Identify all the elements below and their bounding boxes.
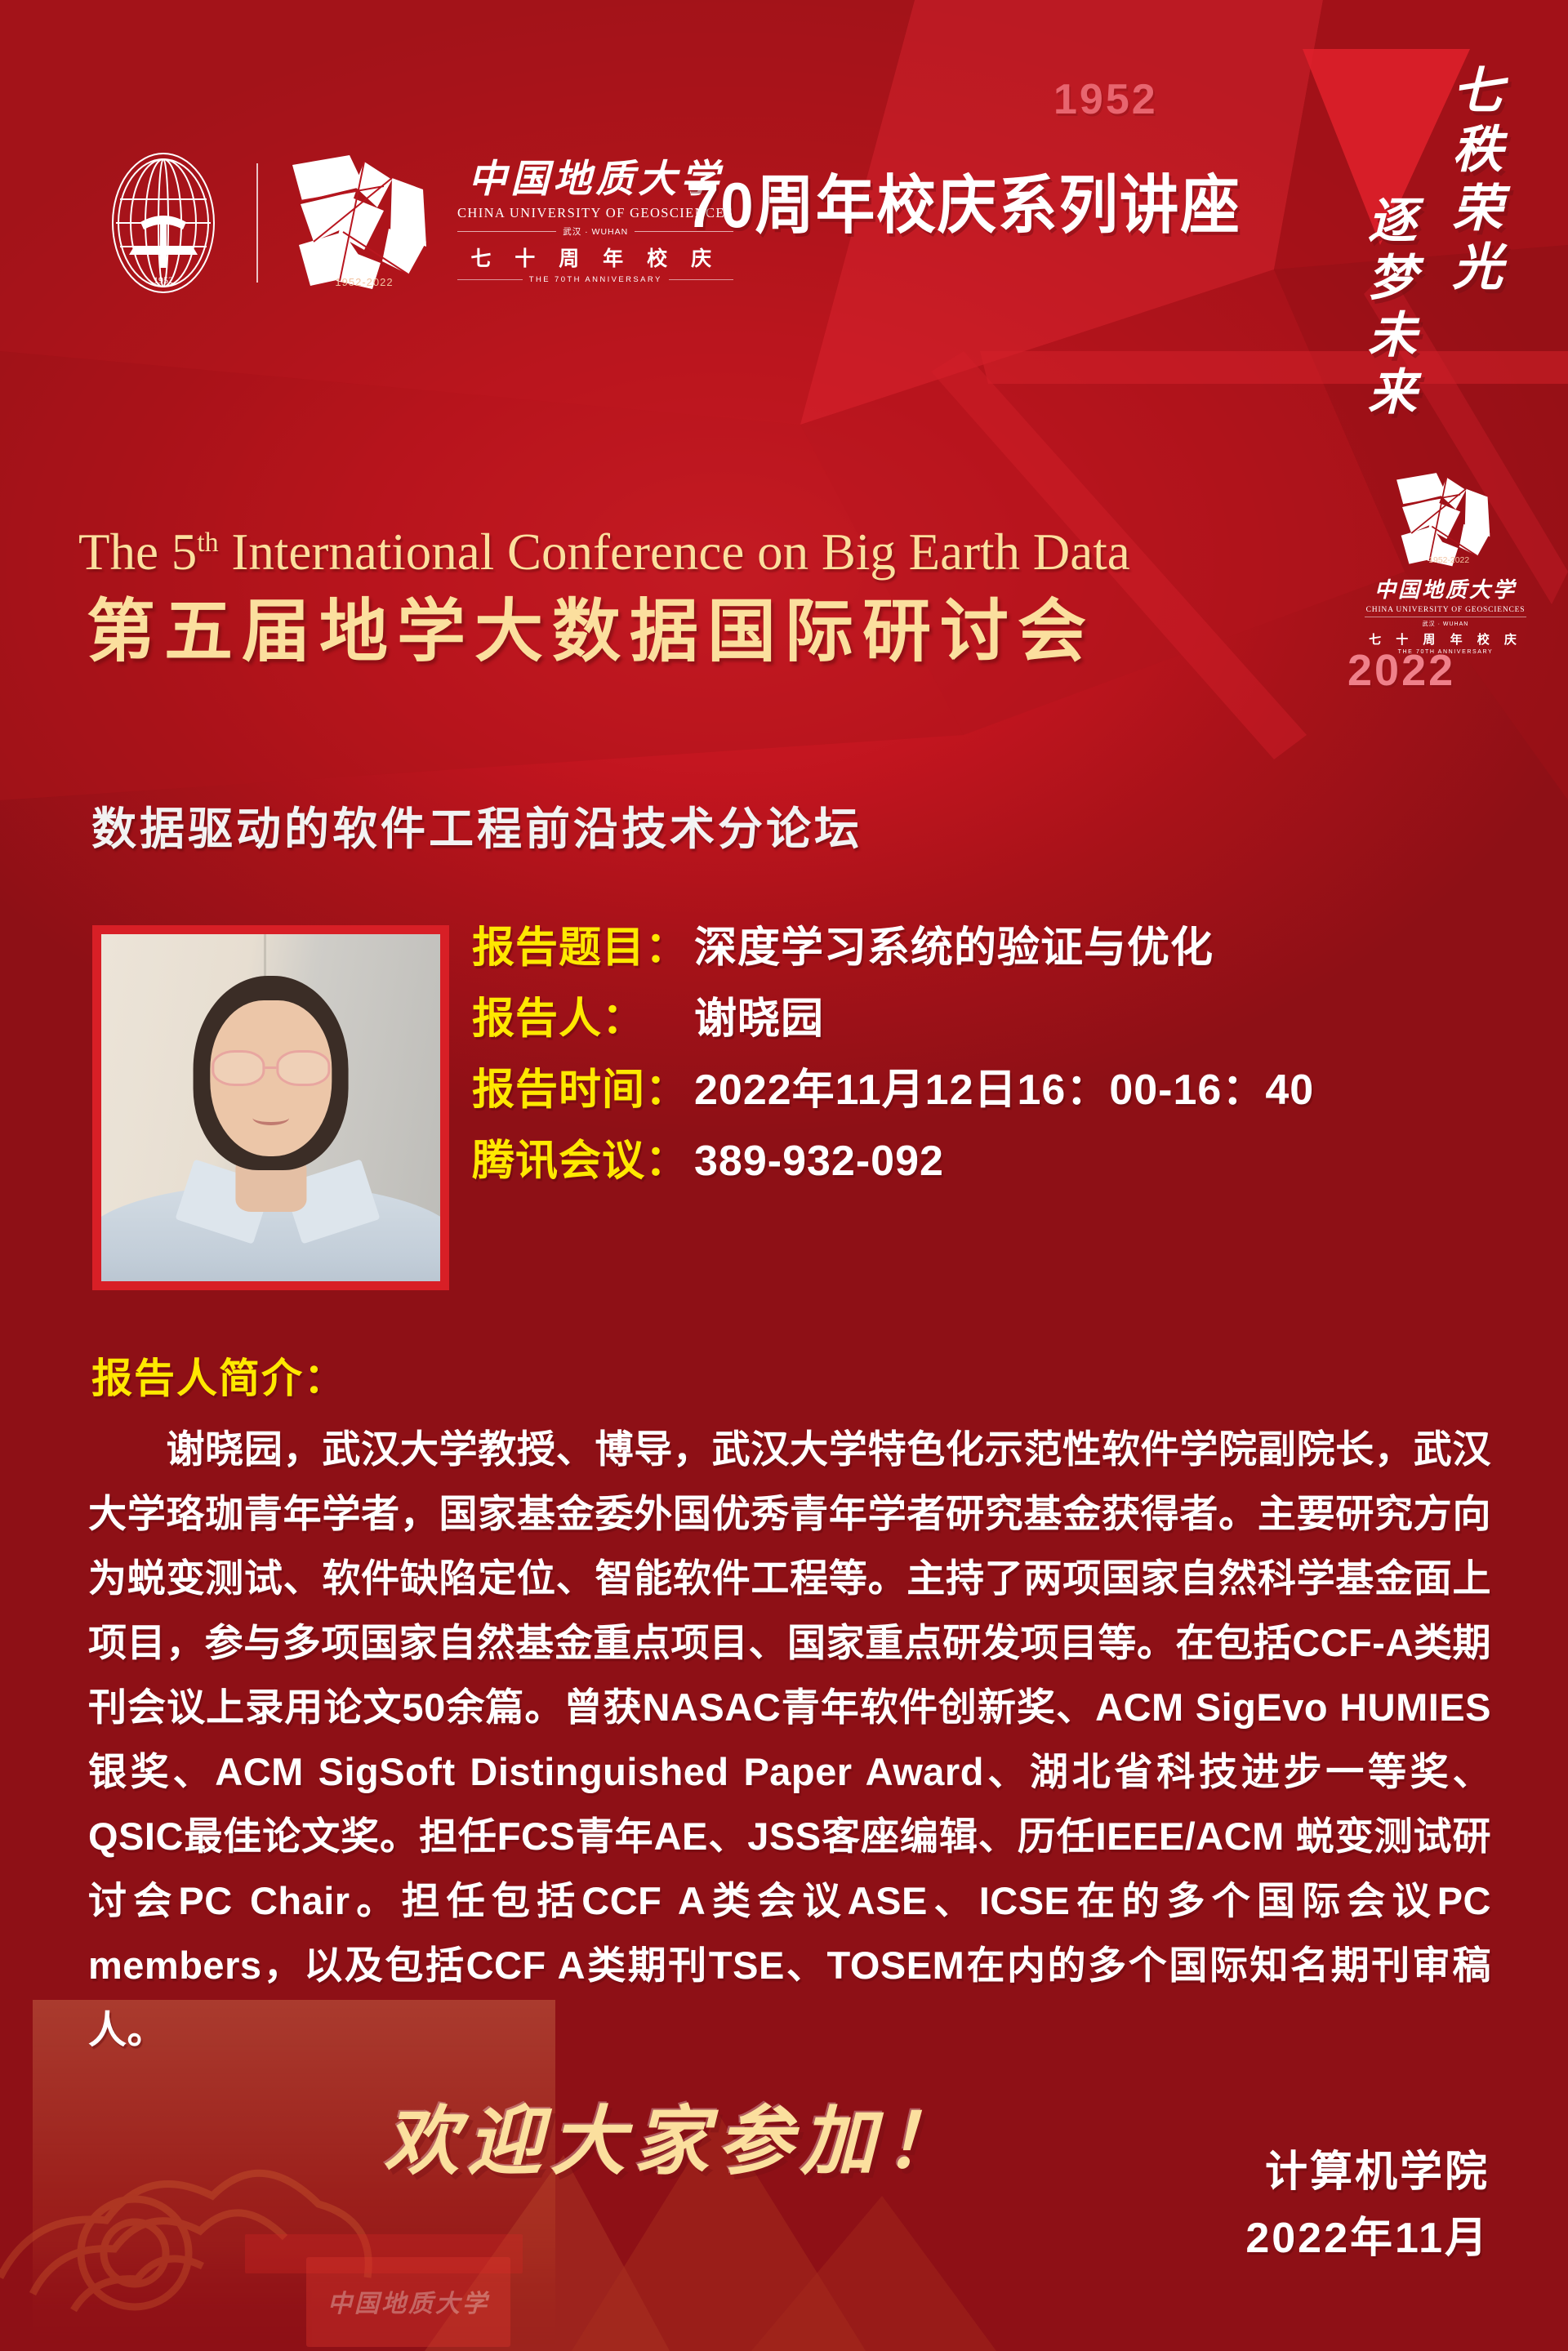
conference-title-en-prefix: The 5: [78, 523, 197, 581]
talk-title-value: 深度学习系统的验证与优化: [694, 913, 1214, 974]
logo-divider: [256, 163, 258, 283]
bio-heading: 报告人简介：: [91, 1346, 346, 1405]
podium-sign: 中国地质大学: [306, 2257, 510, 2347]
wordmark-anniversary-rule: THE 70TH ANNIVERSARY: [457, 275, 733, 284]
wordmark-city: 武汉 · WUHAN: [563, 225, 628, 238]
cug-anniversary-logo-small: 1952-2022 中国地质大学 CHINA UNIVERSITY OF GEO…: [1352, 470, 1539, 655]
speaker-photo-frame: [92, 925, 449, 1290]
speaker-photo: [101, 934, 440, 1281]
talk-meeting-label: 腾讯会议：: [472, 1126, 694, 1187]
anniversary-70-mark-small-icon: 1952-2022: [1392, 470, 1499, 571]
conference-title-en-ordinal: th: [197, 528, 218, 558]
university-logo-block: 1952: [98, 151, 733, 294]
lecture-series-title: 70周年校庆系列讲座: [686, 173, 1241, 237]
footer-organizer-block: 计算机学院 2022年11月: [1245, 2139, 1490, 2271]
wordmark-cn: 中国地质大学: [468, 161, 723, 199]
talk-info-row-meeting: 腾讯会议： 389-932-092: [472, 1126, 1517, 1187]
cug-seal-icon: 1952: [98, 150, 229, 296]
photo-lens-left: [212, 1050, 265, 1086]
wordmark-anniversary-en: THE 70TH ANNIVERSARY: [529, 275, 662, 284]
talk-speaker-label: 报告人：: [472, 984, 694, 1045]
talk-meeting-value: 389-932-092: [694, 1137, 944, 1186]
svg-text:1952: 1952: [154, 274, 173, 286]
small-logo-divider: [1365, 617, 1526, 617]
conference-title-en: The 5th International Conference on Big …: [78, 523, 1130, 582]
small-logo-cn: 中国地质大学: [1352, 573, 1539, 603]
conference-title-cn: 第五届地学大数据国际研讨会: [87, 590, 1095, 675]
talk-speaker-value: 谢晓园: [694, 984, 824, 1045]
poster-root: 中国地质大学: [0, 0, 1568, 2351]
bio-text: 谢晓园，武汉大学教授、博导，武汉大学特色化示范性软件学院副院长，武汉大学珞珈青年…: [88, 1417, 1491, 2062]
talk-time-value: 2022年11月12日16：00-16：40: [694, 1055, 1314, 1116]
conference-title-en-rest: International Conference on Big Earth Da…: [219, 523, 1130, 581]
talk-info-row-speaker: 报告人： 谢晓园: [472, 984, 1517, 1045]
small-logo-anniversary-cn: 七 十 周 年 校 庆: [1352, 630, 1539, 648]
talk-info-row-time: 报告时间： 2022年11月12日16：00-16：40: [472, 1055, 1517, 1116]
poster-header: 1952: [0, 0, 1568, 343]
anniversary-70-mark-icon: 1952-2022: [286, 150, 439, 296]
calligraphy-zhumeng-weilai: 逐梦未来: [1362, 194, 1412, 423]
talk-time-label: 报告时间：: [472, 1055, 694, 1116]
svg-text:1952-2022: 1952-2022: [1428, 556, 1469, 565]
svg-text:1952-2022: 1952-2022: [335, 276, 393, 288]
footer-organizer: 计算机学院: [1245, 2139, 1490, 2206]
small-logo-en: CHINA UNIVERSITY OF GEOSCIENCES: [1352, 606, 1539, 614]
podium-sign-text: 中国地质大学: [306, 2283, 510, 2319]
talk-title-label: 报告题目：: [472, 913, 694, 974]
calligraphy-qizhi-rongguang: 七秩荣光: [1445, 64, 1497, 299]
footer-date: 2022年11月: [1245, 2206, 1490, 2272]
talk-info-row-title: 报告题目： 深度学习系统的验证与优化: [472, 913, 1517, 974]
forum-subtitle: 数据驱动的软件工程前沿技术分论坛: [91, 792, 862, 857]
wordmark-anniversary-cn: 七 十 周 年 校 庆: [470, 243, 720, 272]
photo-smile: [252, 1110, 290, 1125]
photo-glasses-bridge: [265, 1066, 277, 1069]
small-logo-city: 武汉 · WUHAN: [1352, 620, 1539, 628]
small-logo-anniversary-en: THE 70TH ANNIVERSARY: [1352, 649, 1539, 655]
talk-info-block: 报告题目： 深度学习系统的验证与优化 报告人： 谢晓园 报告时间： 2022年1…: [472, 913, 1517, 1197]
photo-lens-right: [276, 1050, 330, 1086]
welcome-message: 欢迎大家参加！: [384, 2081, 967, 2189]
year-marker-1952: 1952: [1053, 75, 1158, 124]
photo-glasses: [212, 1053, 330, 1084]
